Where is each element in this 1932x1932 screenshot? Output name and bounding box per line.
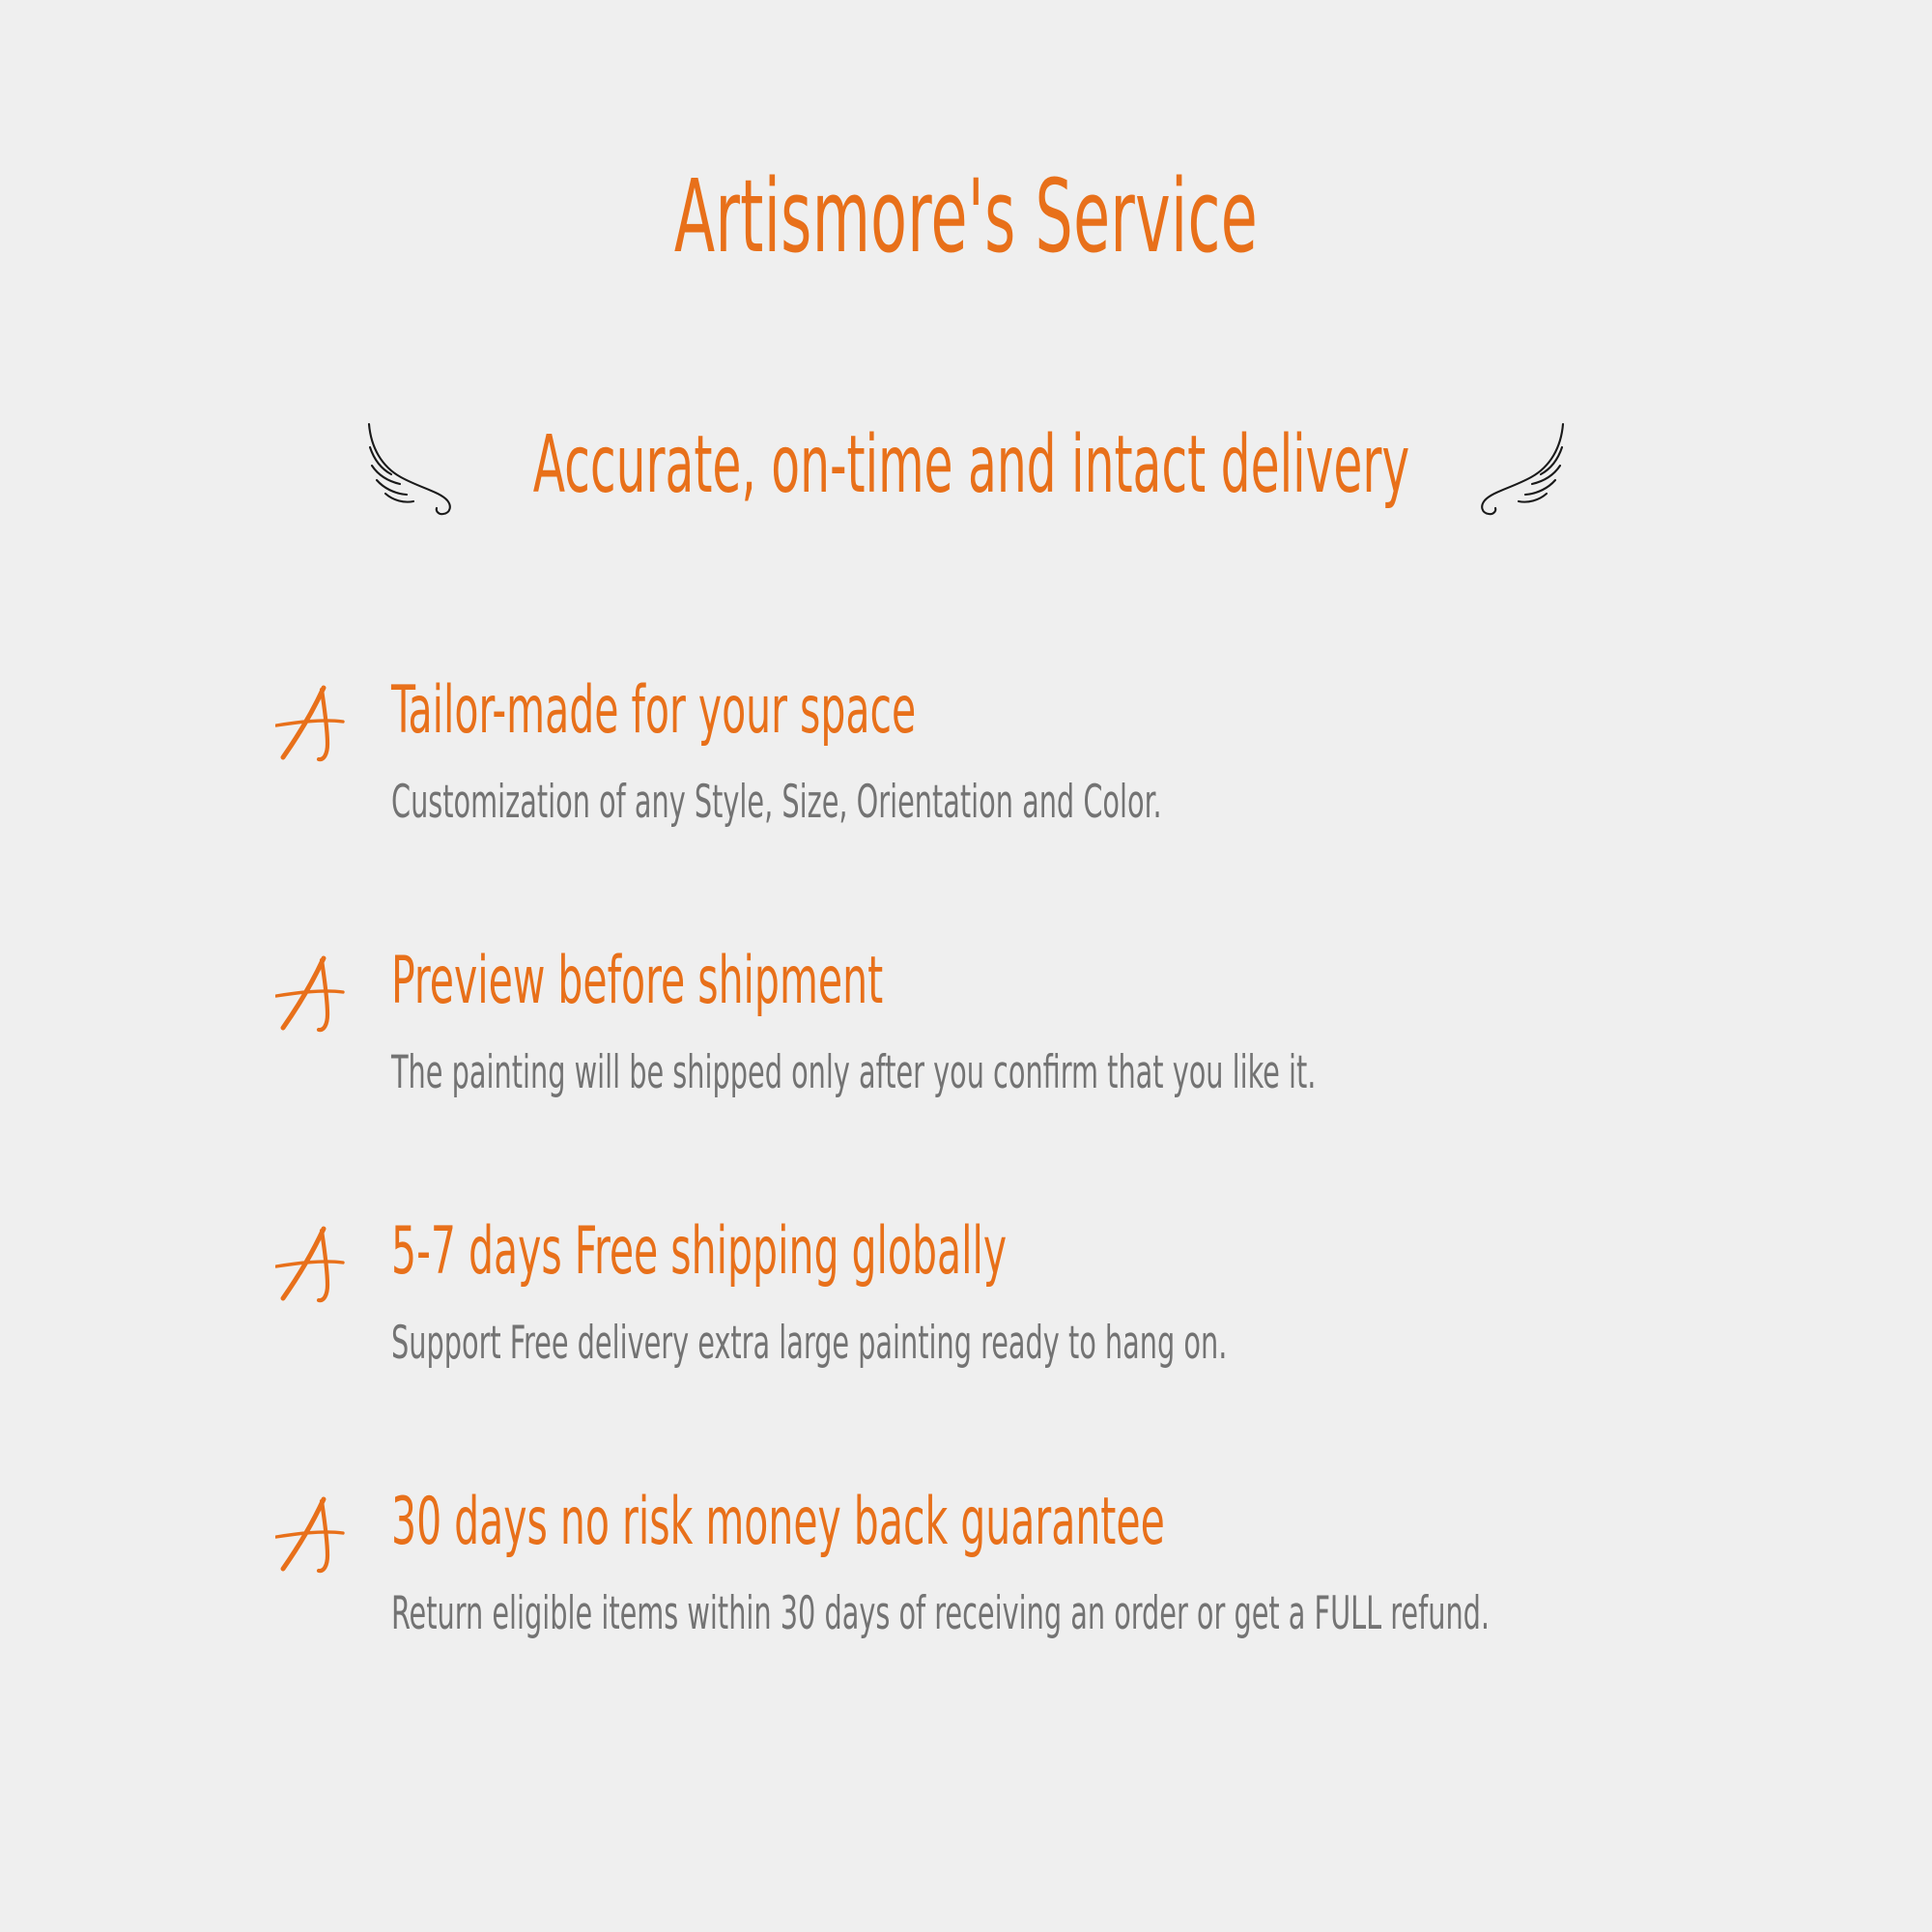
feature-description: Support Free delivery extra large painti… [391,1319,1390,1369]
script-a-icon [275,682,351,769]
feature-title: 5-7 days Free shipping globally [391,1217,1375,1286]
subtitle-banner: Accurate, on-time and intact delivery [0,406,1932,531]
feature-description: Return eligible items within 30 days of … [391,1589,1390,1639]
wing-icon [360,418,467,520]
subtitle-text: Accurate, on-time and intact delivery [532,426,1408,511]
feature-description: Customization of any Style, Size, Orient… [391,778,1390,828]
service-info-page: Artismore's Service Accurate, on-time an… [0,0,1932,1932]
page-title: Artismore's Service [328,164,1604,270]
feature-title: Preview before shipment [391,947,1375,1015]
feature-item: 30 days no risk money back guarantee Ret… [275,1488,1860,1681]
feature-item: 5-7 days Free shipping globally Support … [275,1217,1860,1410]
script-a-icon [275,952,351,1039]
script-a-icon [275,1223,351,1310]
feature-description: The painting will be shipped only after … [391,1048,1390,1098]
feature-item: Preview before shipment The painting wil… [275,947,1860,1140]
feature-title: 30 days no risk money back guarantee [391,1488,1375,1556]
feature-item: Tailor-made for your space Customization… [275,676,1860,869]
feature-list: Tailor-made for your space Customization… [275,676,1860,1681]
wing-icon [1465,418,1572,520]
script-a-icon [275,1493,351,1580]
feature-title: Tailor-made for your space [391,676,1375,745]
